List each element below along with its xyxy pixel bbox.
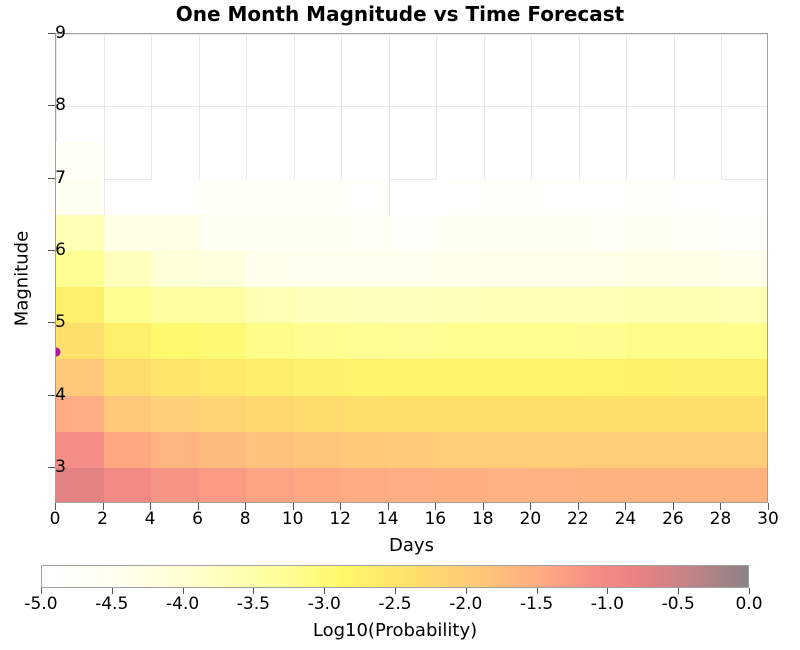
heatmap-cell	[246, 432, 294, 469]
heatmap-cell	[626, 323, 674, 360]
x-axis-tick-mark	[673, 503, 674, 510]
heatmap-cell	[531, 432, 579, 469]
heatmap-cell	[151, 215, 199, 252]
heatmap-cell	[341, 215, 389, 252]
colorbar-gradient	[41, 565, 749, 588]
colorbar-tick-label: -3.5	[218, 594, 288, 614]
heatmap-cell	[294, 432, 342, 469]
heatmap-cell	[484, 432, 532, 469]
heatmap-cell	[294, 251, 342, 288]
colorbar-tick-mark	[537, 588, 538, 594]
heatmap-cell	[389, 323, 437, 360]
x-axis-tick-label: 14	[366, 509, 410, 529]
heatmap-cell	[626, 432, 674, 469]
colorbar-tick-label: -4.0	[148, 594, 218, 614]
heatmap-cell	[579, 179, 627, 216]
y-axis-tick-mark	[48, 33, 55, 34]
x-axis-tick-mark	[483, 503, 484, 510]
heatmap-cell	[674, 396, 722, 433]
y-axis-tick-mark	[48, 178, 55, 179]
heatmap-cell	[674, 359, 722, 396]
heatmap-cell	[104, 359, 152, 396]
x-axis-tick-mark	[530, 503, 531, 510]
y-axis-tick-mark	[48, 322, 55, 323]
heatmap-cell	[104, 323, 152, 360]
heatmap-cell	[674, 179, 722, 216]
heatmap-cell	[246, 287, 294, 324]
heatmap-cell	[389, 251, 437, 288]
heatmap-cell	[721, 251, 768, 288]
colorbar-tick-label: -1.0	[572, 594, 642, 614]
colorbar-tick-mark	[183, 588, 184, 594]
heatmap-cell	[626, 468, 674, 503]
y-axis-tick-label: 9	[26, 23, 66, 43]
heatmap-cell	[294, 468, 342, 503]
heatmap-cell	[389, 215, 437, 252]
heatmap-cell	[389, 432, 437, 469]
x-axis-tick-mark	[578, 503, 579, 510]
heatmap-cell	[531, 215, 579, 252]
heatmap-cell	[579, 215, 627, 252]
heatmap-cell	[484, 179, 532, 216]
x-axis-tick-label: 12	[318, 509, 362, 529]
heatmap-cell	[341, 359, 389, 396]
heatmap-cell	[341, 287, 389, 324]
figure-canvas: One Month Magnitude vs Time Forecast Mag…	[0, 0, 800, 650]
x-axis-tick-label: 18	[461, 509, 505, 529]
heatmap-cell	[674, 468, 722, 503]
heatmap-cell	[721, 287, 768, 324]
heatmap-cell	[104, 468, 152, 503]
heatmap-cell	[579, 323, 627, 360]
heatmap-cell	[246, 468, 294, 503]
x-axis-tick-mark	[150, 503, 151, 510]
heatmap-cell	[436, 396, 484, 433]
heatmap-cell	[151, 179, 199, 216]
colorbar-tick-label: -2.0	[431, 594, 501, 614]
heatmap-cell	[294, 359, 342, 396]
heatmap-cell	[341, 432, 389, 469]
heatmap-cell	[199, 323, 247, 360]
colorbar-tick-mark	[324, 588, 325, 594]
heatmap-cell	[579, 396, 627, 433]
heatmap-cell	[721, 359, 768, 396]
heatmap-cell	[246, 215, 294, 252]
y-axis-tick-mark	[48, 395, 55, 396]
colorbar-tick-mark	[749, 588, 750, 594]
heatmap-cell	[579, 432, 627, 469]
x-axis-tick-label: 6	[176, 509, 220, 529]
heatmap-cell	[151, 287, 199, 324]
heatmap-cell	[626, 287, 674, 324]
y-axis-tick-label: 5	[26, 312, 66, 332]
heatmap-cell	[484, 215, 532, 252]
heatmap-cell	[579, 468, 627, 503]
colorbar-tick-label: -1.5	[502, 594, 572, 614]
colorbar-tick-mark	[466, 588, 467, 594]
chart-title: One Month Magnitude vs Time Forecast	[0, 2, 800, 26]
heatmap-cell	[104, 396, 152, 433]
heatmap-cell	[199, 215, 247, 252]
heatmap-cell	[531, 468, 579, 503]
heatmap-cell	[341, 251, 389, 288]
heatmap-cell	[246, 251, 294, 288]
heatmap-cell	[531, 251, 579, 288]
heatmap-cell	[104, 251, 152, 288]
x-axis-tick-label: 22	[556, 509, 600, 529]
heatmap-cell	[246, 396, 294, 433]
heatmap-cell	[294, 287, 342, 324]
heatmap-cell	[436, 215, 484, 252]
heatmap-cell	[531, 323, 579, 360]
heatmap-cell	[626, 251, 674, 288]
heatmap-cell	[674, 432, 722, 469]
heatmap-cell	[294, 323, 342, 360]
y-axis-tick-label: 6	[26, 240, 66, 260]
heatmap-cell	[436, 323, 484, 360]
heatmap-cell	[579, 287, 627, 324]
heatmap-cell	[341, 323, 389, 360]
y-axis-label: Magnitude	[12, 69, 33, 489]
colorbar[interactable]	[41, 565, 749, 588]
heatmap-cell	[436, 359, 484, 396]
heatmap-cell	[294, 179, 342, 216]
colorbar-tick-mark	[41, 588, 42, 594]
heatmap-cell	[626, 215, 674, 252]
heatmap-cells	[56, 34, 767, 502]
heatmap-cell	[721, 432, 768, 469]
heatmap-cell	[436, 468, 484, 503]
heatmap-cell	[246, 359, 294, 396]
heatmap-cell	[151, 432, 199, 469]
y-axis-tick-label: 8	[26, 95, 66, 115]
heatmap-cell	[199, 432, 247, 469]
x-axis-tick-label: 10	[271, 509, 315, 529]
heatmap-cell	[151, 468, 199, 503]
colorbar-tick-mark	[112, 588, 113, 594]
heatmap-cell	[389, 359, 437, 396]
heatmap-cell	[436, 179, 484, 216]
x-axis-tick-mark	[293, 503, 294, 510]
heatmap-cell	[674, 323, 722, 360]
heatmap-cell	[436, 251, 484, 288]
heatmap-cell	[531, 396, 579, 433]
heatmap-cell	[199, 468, 247, 503]
heatmap-cell	[721, 215, 768, 252]
heatmap-cell	[341, 468, 389, 503]
heatmap-cell	[246, 323, 294, 360]
heatmap-cell	[294, 215, 342, 252]
x-axis-tick-label: 28	[698, 509, 742, 529]
x-axis-tick-mark	[103, 503, 104, 510]
heatmap-cell	[104, 287, 152, 324]
colorbar-label: Log10(Probability)	[41, 620, 749, 641]
heatmap-cell	[436, 432, 484, 469]
colorbar-tick-mark	[678, 588, 679, 594]
x-axis-tick-mark	[55, 503, 56, 510]
heatmap-cell	[151, 251, 199, 288]
heatmap-cell	[674, 287, 722, 324]
colorbar-tick-label: -3.0	[289, 594, 359, 614]
y-axis-tick-label: 7	[26, 168, 66, 188]
x-axis-tick-label: 2	[81, 509, 125, 529]
heatmap-cell	[721, 396, 768, 433]
x-axis-label: Days	[55, 535, 768, 556]
colorbar-tick-label: 0.0	[714, 594, 784, 614]
heatmap-cell	[341, 396, 389, 433]
y-axis-tick-mark	[48, 105, 55, 106]
colorbar-tick-label: -0.5	[643, 594, 713, 614]
heatmap-cell	[626, 359, 674, 396]
colorbar-tick-label: -4.5	[77, 594, 147, 614]
colorbar-tick-mark	[253, 588, 254, 594]
heatmap-cell	[579, 359, 627, 396]
x-axis-tick-mark	[435, 503, 436, 510]
heatmap-cell	[199, 287, 247, 324]
heatmap-cell	[199, 179, 247, 216]
heatmap-cell	[531, 287, 579, 324]
heatmap-cell	[246, 179, 294, 216]
heatmap-cell	[389, 287, 437, 324]
heatmap-cell	[151, 396, 199, 433]
x-axis-tick-mark	[720, 503, 721, 510]
heatmap-cell	[294, 396, 342, 433]
x-axis-tick-mark	[768, 503, 769, 510]
x-axis-tick-label: 0	[33, 509, 77, 529]
y-axis-tick-label: 4	[26, 385, 66, 405]
heatmap-cell	[151, 323, 199, 360]
heatmap-cell	[484, 359, 532, 396]
x-axis-tick-mark	[340, 503, 341, 510]
heatmap-cell	[341, 179, 389, 216]
x-axis-tick-mark	[245, 503, 246, 510]
heatmap-cell	[484, 323, 532, 360]
heatmap-cell	[199, 251, 247, 288]
colorbar-tick-label: -5.0	[6, 594, 76, 614]
heatmap-cell	[199, 396, 247, 433]
heatmap-cell	[484, 468, 532, 503]
y-axis-tick-mark	[48, 467, 55, 468]
heatmap-cell	[484, 396, 532, 433]
heatmap-cell	[579, 251, 627, 288]
colorbar-tick-label: -2.5	[360, 594, 430, 614]
heatmap-cell	[484, 287, 532, 324]
x-axis-tick-label: 30	[746, 509, 790, 529]
x-axis-tick-label: 8	[223, 509, 267, 529]
heatmap-cell	[436, 287, 484, 324]
x-axis-tick-label: 26	[651, 509, 695, 529]
colorbar-tick-mark	[607, 588, 608, 594]
heatmap-cell	[531, 179, 579, 216]
heatmap-cell	[484, 251, 532, 288]
heatmap-cell	[674, 215, 722, 252]
heatmap-cell	[199, 359, 247, 396]
x-axis-tick-mark	[388, 503, 389, 510]
heatmap-cell	[104, 215, 152, 252]
heatmap-cell	[626, 179, 674, 216]
x-axis-tick-label: 24	[603, 509, 647, 529]
heatmap-cell	[721, 323, 768, 360]
heatmap-cell	[626, 396, 674, 433]
heatmap-cell	[721, 468, 768, 503]
x-axis-tick-mark	[198, 503, 199, 510]
colorbar-tick-mark	[395, 588, 396, 594]
heatmap-cell	[531, 359, 579, 396]
heatmap-cell	[104, 432, 152, 469]
x-axis-tick-mark	[625, 503, 626, 510]
y-axis-tick-mark	[48, 250, 55, 251]
x-axis-tick-label: 20	[508, 509, 552, 529]
heatmap-cell	[674, 251, 722, 288]
heatmap-cell	[151, 359, 199, 396]
y-axis-tick-label: 3	[26, 457, 66, 477]
x-axis-tick-label: 16	[413, 509, 457, 529]
x-axis-tick-label: 4	[128, 509, 172, 529]
heatmap-cell	[389, 396, 437, 433]
heatmap-plot-area[interactable]	[55, 33, 768, 503]
heatmap-cell	[389, 468, 437, 503]
